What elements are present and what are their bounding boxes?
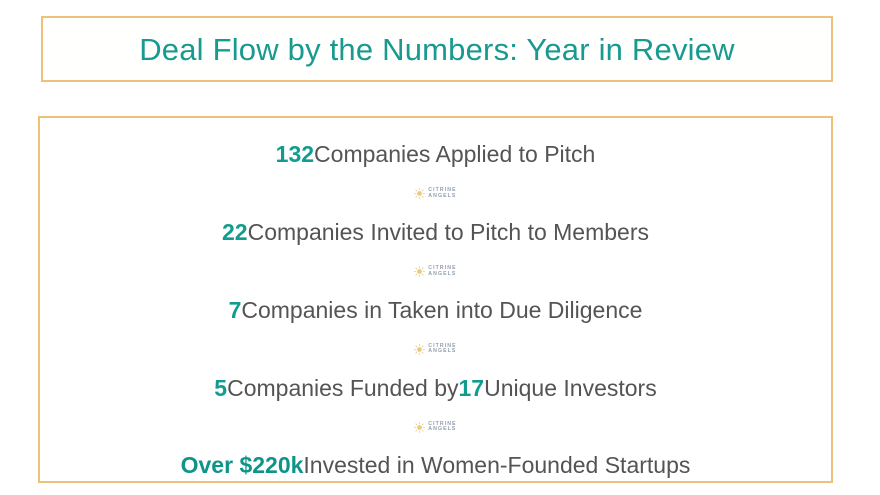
logo-wordmark: CITRINE ANGELS bbox=[428, 188, 456, 199]
divider-logo-2: CITRINE ANGELS bbox=[414, 248, 456, 296]
stat-number-5: Over $220k bbox=[181, 453, 304, 478]
title-banner: Deal Flow by the Numbers: Year in Review bbox=[41, 16, 833, 82]
stat-row-1: 132 Companies Applied to Pitch bbox=[276, 140, 596, 170]
citrine-sun-icon bbox=[414, 344, 425, 355]
stat-label-3: Companies in Taken into Due Diligence bbox=[241, 298, 642, 323]
logo-line-2: ANGELS bbox=[428, 349, 456, 354]
citrine-angels-logo: CITRINE ANGELS bbox=[414, 344, 456, 355]
stat-label-4a: Companies Funded by bbox=[227, 376, 458, 401]
logo-wordmark: CITRINE ANGELS bbox=[428, 344, 456, 355]
divider-logo-3: CITRINE ANGELS bbox=[414, 325, 456, 373]
stat-row-4: 5 Companies Funded by 17 Unique Investor… bbox=[214, 373, 656, 403]
stat-label-2: Companies Invited to Pitch to Members bbox=[248, 220, 649, 245]
stat-number-2: 22 bbox=[222, 220, 248, 245]
logo-wordmark: CITRINE ANGELS bbox=[428, 266, 456, 277]
logo-line-2: ANGELS bbox=[428, 272, 456, 277]
stat-row-2: 22 Companies Invited to Pitch to Members bbox=[222, 218, 649, 248]
stat-label-4b: Unique Investors bbox=[484, 376, 657, 401]
stat-label-5: Invested in Women-Founded Startups bbox=[303, 453, 690, 478]
stat-row-3: 7 Companies in Taken into Due Diligence bbox=[229, 296, 643, 326]
citrine-angels-logo: CITRINE ANGELS bbox=[414, 188, 456, 199]
stats-panel: 132 Companies Applied to Pitch CITRINE bbox=[38, 116, 833, 483]
citrine-sun-icon bbox=[414, 266, 425, 277]
stat-number-3: 7 bbox=[229, 298, 242, 323]
stat-number-1: 132 bbox=[276, 142, 314, 167]
citrine-angels-logo: CITRINE ANGELS bbox=[414, 422, 456, 433]
page-title: Deal Flow by the Numbers: Year in Review bbox=[139, 34, 735, 65]
logo-line-2: ANGELS bbox=[428, 427, 456, 432]
citrine-angels-logo: CITRINE ANGELS bbox=[414, 266, 456, 277]
logo-wordmark: CITRINE ANGELS bbox=[428, 422, 456, 433]
divider-logo-1: CITRINE ANGELS bbox=[414, 170, 456, 218]
stat-label-1: Companies Applied to Pitch bbox=[314, 142, 595, 167]
citrine-sun-icon bbox=[414, 188, 425, 199]
stat-number-4a: 5 bbox=[214, 376, 227, 401]
citrine-sun-icon bbox=[414, 422, 425, 433]
stat-number-4b: 17 bbox=[459, 376, 485, 401]
stat-row-5: Over $220k Invested in Women-Founded Sta… bbox=[181, 451, 691, 481]
divider-logo-4: CITRINE ANGELS bbox=[414, 403, 456, 451]
logo-line-2: ANGELS bbox=[428, 194, 456, 199]
